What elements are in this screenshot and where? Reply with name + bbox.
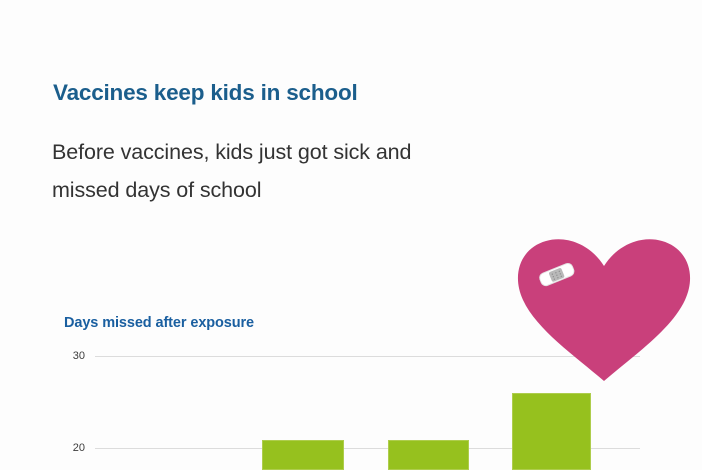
ytick-label-30: 30	[55, 351, 85, 362]
page-subtitle-line-2: missed days of school	[52, 171, 572, 209]
ytick-30: 30	[55, 351, 85, 362]
bandage-icon	[537, 261, 576, 289]
chart-plot-area: 30 20	[0, 300, 702, 462]
slide-canvas: Vaccines keep kids in school Before vacc…	[0, 0, 702, 462]
bar-1[interactable]	[262, 440, 344, 470]
page-title: Vaccines keep kids in school	[53, 80, 358, 106]
ytick-20: 20	[55, 443, 85, 454]
gridline-30	[95, 356, 640, 357]
page-subtitle: Before vaccines, kids just got sick and …	[52, 133, 572, 209]
page-subtitle-line-1: Before vaccines, kids just got sick and	[52, 133, 572, 171]
ytick-label-20: 20	[55, 443, 85, 454]
bar-chart: Days missed after exposure 30 20	[0, 300, 702, 462]
bar-2[interactable]	[388, 440, 469, 470]
bar-3[interactable]	[512, 393, 591, 470]
